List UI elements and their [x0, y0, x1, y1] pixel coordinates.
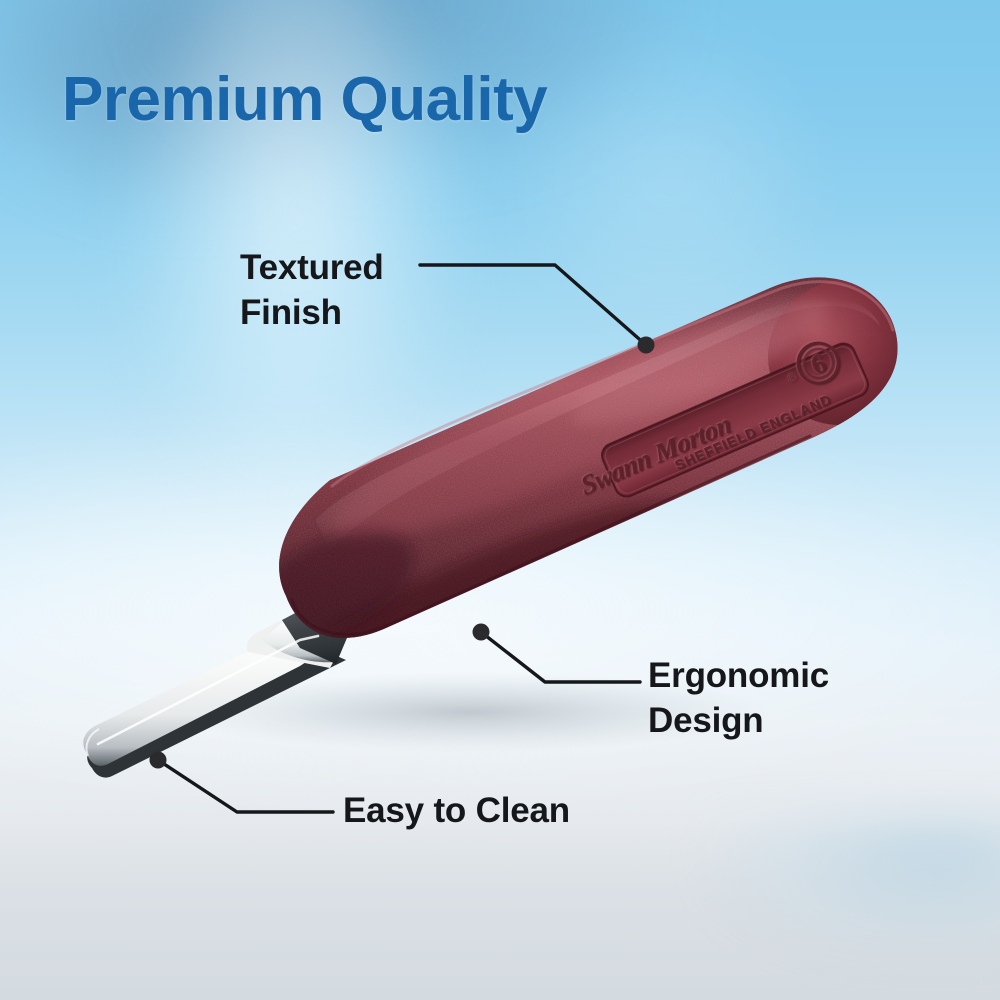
leader-dot-textured-finish — [638, 337, 655, 354]
callout-label-ergonomic-design: Ergonomic Design — [648, 654, 829, 744]
leader-dot-easy-to-clean — [150, 752, 167, 769]
leader-line-textured-finish — [420, 265, 646, 345]
callout-label-easy-to-clean: Easy to Clean — [343, 789, 570, 834]
callout-label-textured-finish: Textured Finish — [240, 246, 384, 336]
product-illustration: Swann Morton ® SHEFFIELD ENGLAND 6 — [0, 0, 1000, 1000]
leader-line-easy-to-clean — [158, 760, 333, 812]
infographic-canvas: Premium Quality — [0, 0, 1000, 1000]
leader-dot-ergonomic-design — [473, 624, 490, 641]
